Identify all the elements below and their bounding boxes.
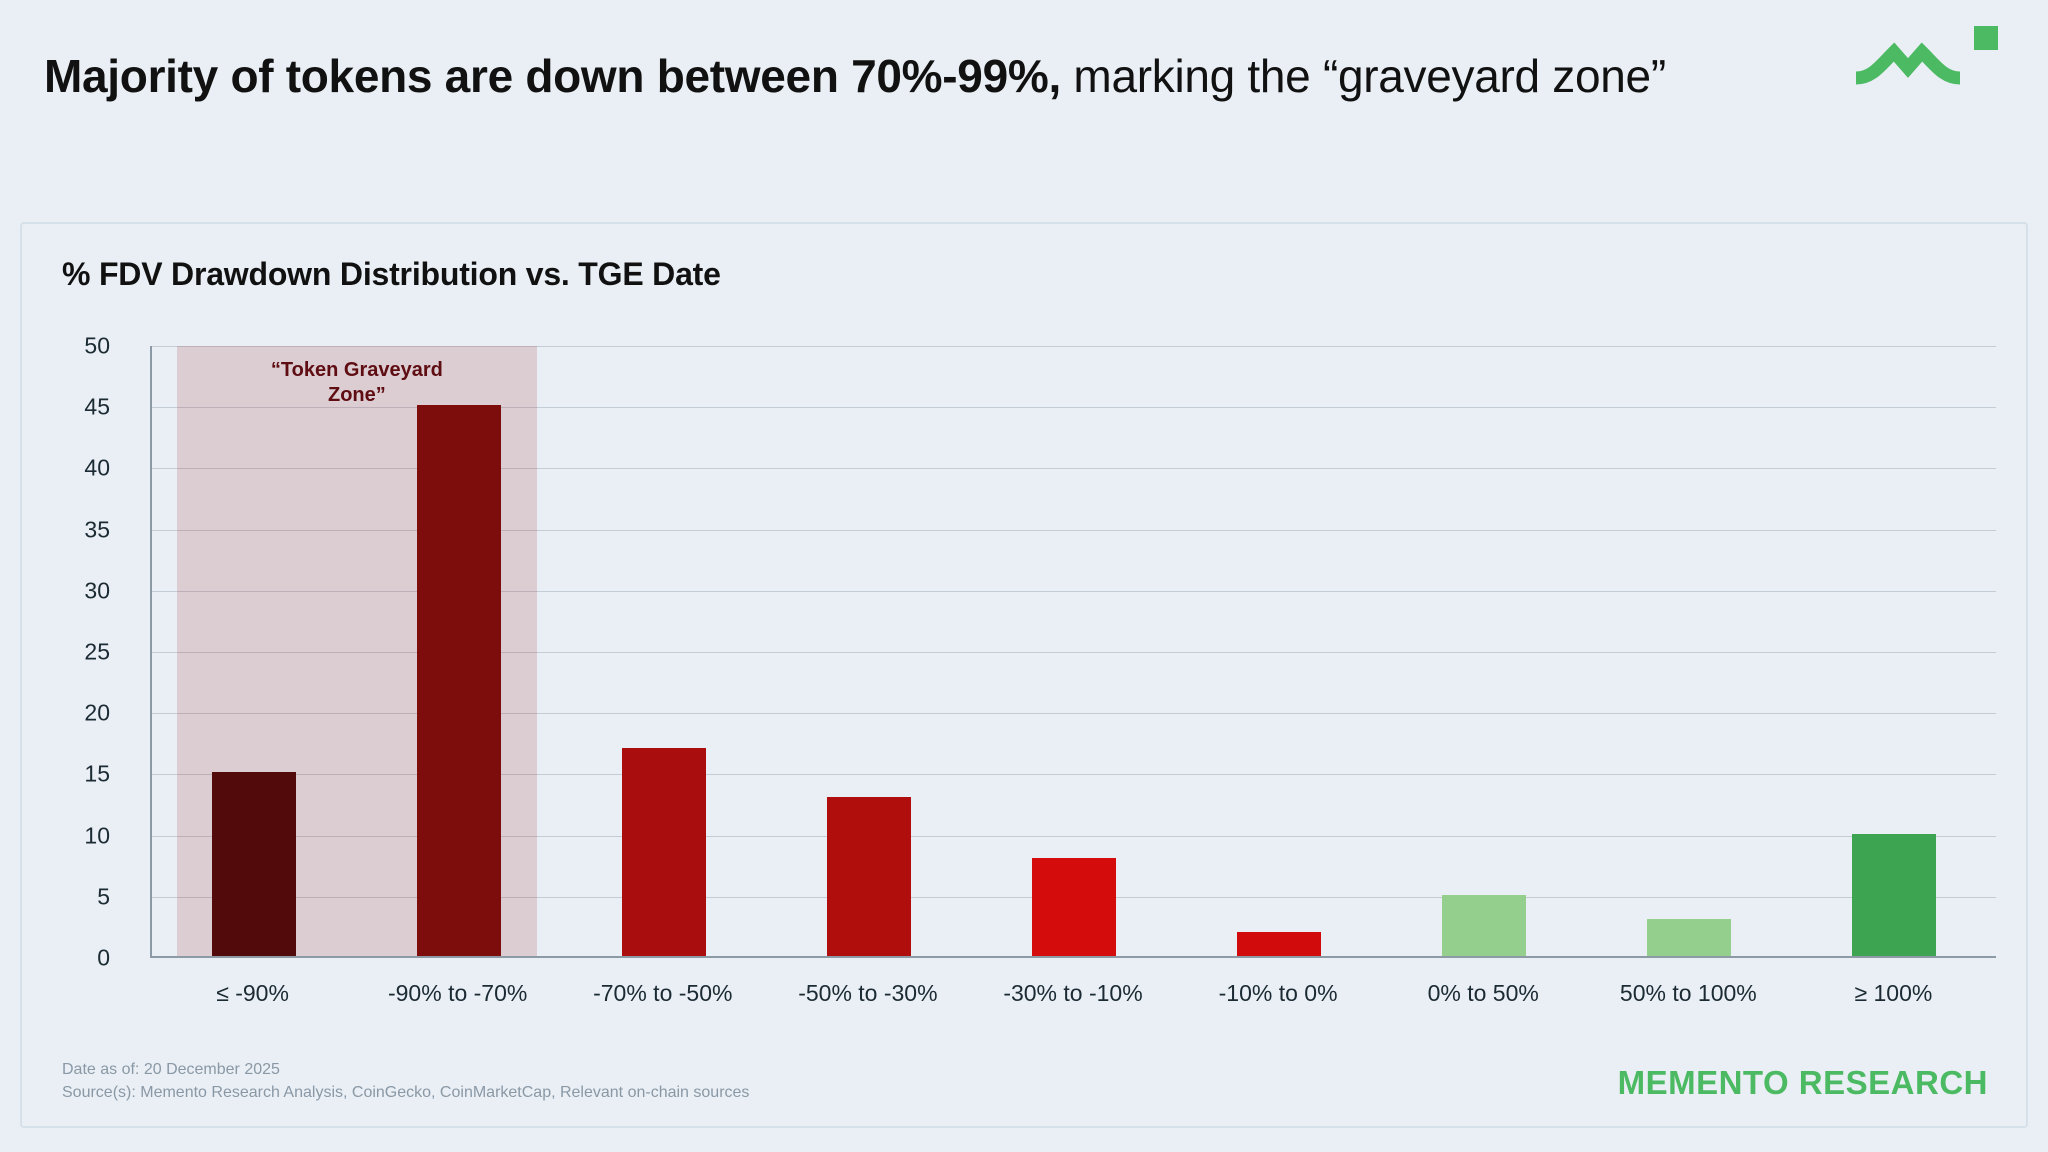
y-axis-tick: 50 (84, 333, 110, 360)
chart-card: % FDV Drawdown Distribution vs. TGE Date… (20, 222, 2028, 1128)
bar-slot (1791, 346, 1996, 956)
plot-canvas: “Token Graveyard Zone” (150, 346, 1996, 958)
y-axis-tick: 45 (84, 394, 110, 421)
brand-wordmark: MEMENTO RESEARCH (1618, 1064, 1988, 1102)
footnote-date: Date as of: 20 December 2025 (62, 1058, 749, 1081)
y-axis-tick: 0 (97, 945, 110, 972)
y-axis-tick: 35 (84, 516, 110, 543)
bar-series (152, 346, 1996, 956)
slide-root: Majority of tokens are down between 70%-… (0, 0, 2048, 1152)
bar-slot (1586, 346, 1791, 956)
bar[interactable] (212, 772, 296, 956)
bar[interactable] (827, 797, 911, 956)
bar[interactable] (1237, 932, 1321, 956)
bar-slot (1381, 346, 1586, 956)
bar-slot (767, 346, 972, 956)
y-axis-tick: 15 (84, 761, 110, 788)
page-title-bold: Majority of tokens are down between 70%-… (44, 50, 1061, 102)
bar-slot (562, 346, 767, 956)
y-axis-tick: 25 (84, 639, 110, 666)
y-axis-tick: 10 (84, 822, 110, 849)
y-axis-tick: 20 (84, 700, 110, 727)
footnote: Date as of: 20 December 2025 Source(s): … (62, 1058, 749, 1104)
bar[interactable] (1647, 919, 1731, 956)
x-axis-label: 50% to 100% (1586, 964, 1791, 1007)
bar-slot (1176, 346, 1381, 956)
logo-square-icon (1974, 26, 1998, 50)
x-axis: ≤ -90%-90% to -70%-70% to -50%-50% to -3… (150, 964, 1996, 1007)
x-axis-label: -90% to -70% (355, 964, 560, 1007)
footnote-source: Source(s): Memento Research Analysis, Co… (62, 1081, 749, 1104)
x-axis-label: 0% to 50% (1381, 964, 1586, 1007)
plot-area: 05101520253035404550 “Token Graveyard Zo… (62, 346, 1996, 986)
x-axis-label: -30% to -10% (970, 964, 1175, 1007)
bar[interactable] (1032, 858, 1116, 956)
bar-slot (152, 346, 357, 956)
x-axis-label: -70% to -50% (560, 964, 765, 1007)
page-title: Majority of tokens are down between 70%-… (44, 48, 1804, 104)
bar[interactable] (1442, 895, 1526, 956)
bar-slot (972, 346, 1177, 956)
memento-logo (1850, 20, 2020, 100)
page-title-rest: marking the “graveyard zone” (1061, 50, 1666, 102)
zigzag-logo-icon (1850, 20, 2020, 100)
y-axis-tick: 40 (84, 455, 110, 482)
x-axis-label: -50% to -30% (765, 964, 970, 1007)
bar[interactable] (1852, 834, 1936, 956)
x-axis-label: ≤ -90% (150, 964, 355, 1007)
x-axis-label: -10% to 0% (1176, 964, 1381, 1007)
y-axis-tick: 30 (84, 577, 110, 604)
y-axis-tick: 5 (97, 883, 110, 910)
chart-title: % FDV Drawdown Distribution vs. TGE Date (62, 256, 721, 293)
bar[interactable] (622, 748, 706, 956)
x-axis-label: ≥ 100% (1791, 964, 1996, 1007)
bar-slot (357, 346, 562, 956)
header: Majority of tokens are down between 70%-… (44, 48, 1804, 104)
y-axis: 05101520253035404550 (62, 346, 122, 958)
bar[interactable] (417, 405, 501, 956)
